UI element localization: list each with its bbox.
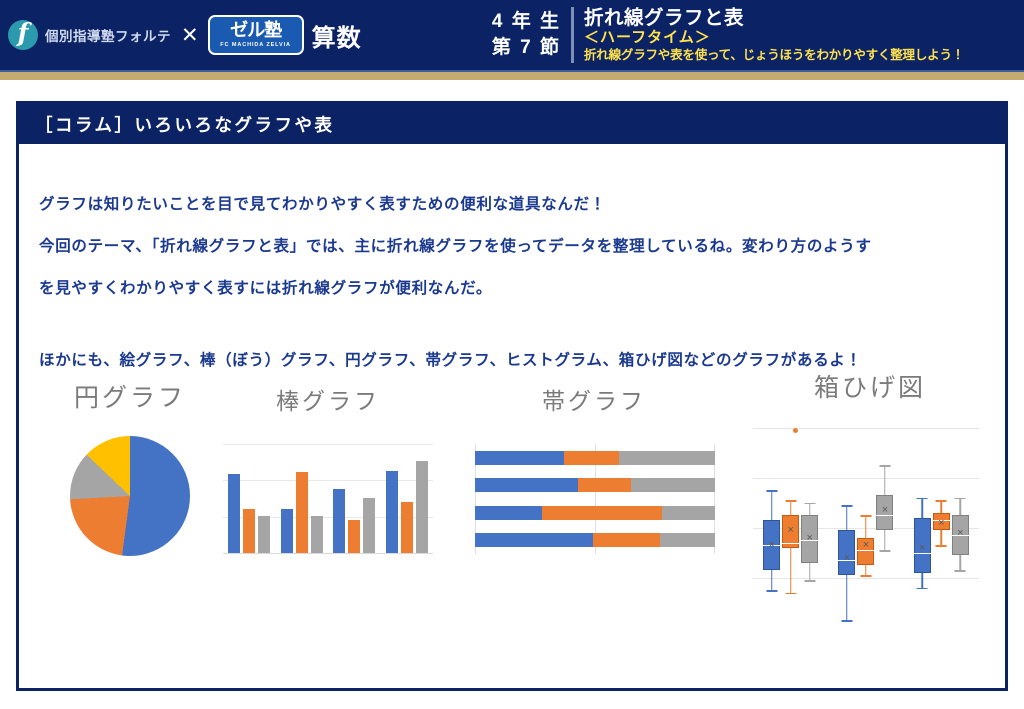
boxplot-box: × — [801, 420, 818, 620]
whisker-cap-max — [766, 490, 777, 492]
whisker-cap-min — [804, 580, 815, 582]
bar — [311, 516, 323, 553]
band-row — [475, 478, 715, 492]
bar-group — [386, 461, 428, 553]
bar — [281, 509, 293, 553]
forte-name-label: 個別指導塾フォルテ — [45, 25, 171, 45]
whisker-cap-min — [841, 620, 852, 622]
bar — [296, 472, 308, 553]
bar — [416, 461, 428, 553]
bar-chart-figure: 棒グラフ — [217, 382, 439, 554]
pie-slices — [70, 436, 190, 556]
zelvia-club-name: FC MACHIDA ZELVIA — [220, 41, 291, 49]
bar-groups — [223, 444, 433, 553]
median-line — [782, 543, 799, 544]
band-chart-title: 帯グラフ — [469, 382, 719, 416]
bar — [401, 502, 413, 553]
whisker-cap-min — [766, 590, 777, 592]
whisker-cap-min — [879, 550, 890, 552]
lesson-title-block: 折れ線グラフと表 ＜ハーフタイム＞ 折れ線グラフや表を使って、じょうほうをわかり… — [574, 7, 1024, 63]
bar — [228, 474, 240, 553]
boxplot-group: ××× — [837, 420, 895, 620]
lesson-subtitle: 折れ線グラフや表を使って、じょうほうをわかりやすく整理しよう！ — [584, 47, 1024, 63]
bar — [243, 509, 255, 553]
bar — [348, 520, 360, 553]
paragraph-2: 今回のテーマ、「折れ線グラフと表」では、主に折れ線グラフを使ってデータを整理して… — [39, 228, 971, 266]
whisker-cap-min — [917, 588, 928, 590]
header-gold-strip — [0, 70, 1024, 80]
band-segment — [631, 478, 715, 492]
bar-group — [281, 472, 323, 553]
band-segment — [542, 506, 662, 520]
boxplot-figure: 箱ひげ図 ××××××××× — [745, 368, 995, 620]
pie-chart-plot — [70, 436, 190, 556]
brand-forte: f 個別指導塾フォルテ — [8, 20, 171, 50]
bar-chart-plot — [223, 444, 433, 554]
bar — [258, 516, 270, 553]
lesson-title: 折れ線グラフと表 — [584, 7, 1024, 29]
whisker-cap-max — [955, 498, 966, 500]
paragraph-spacer — [39, 312, 971, 342]
section-label: 第 7 節 — [492, 35, 561, 61]
grade-label: 4 年 生 — [492, 9, 561, 35]
forte-f-circle-icon: f — [8, 20, 38, 50]
panel-title: ［コラム］いろいろなグラフや表 — [19, 104, 1005, 144]
paragraph-1: グラフは知りたいことを目で見てわかりやすく表すための便利な道具なんだ！ — [39, 186, 971, 224]
whisker-cap-min — [936, 545, 947, 547]
band-chart-plot — [475, 444, 715, 554]
paragraph-3: を見やすくわかりやすく表すには折れ線グラフが便利なんだ。 — [39, 270, 971, 308]
band-row — [475, 533, 715, 547]
boxplot-plot: ××××××××× — [753, 420, 979, 620]
boxplot-box: × — [952, 420, 969, 620]
whisker-cap-min — [785, 593, 796, 595]
whisker-cap-max — [860, 515, 871, 517]
boxplot-box: × — [857, 420, 874, 620]
bar — [386, 471, 398, 554]
boxplot-box: × — [838, 420, 855, 620]
band-segment — [564, 451, 619, 465]
page-header: f 個別指導塾フォルテ ✕ ゼル塾 FC MACHIDA ZELVIA 算数 4… — [0, 0, 1024, 70]
band-chart-figure: 帯グラフ — [469, 382, 719, 554]
whisker-cap-max — [804, 503, 815, 505]
column-panel: ［コラム］いろいろなグラフや表 グラフは知りたいことを目で見てわかりやすく表すた… — [16, 101, 1008, 691]
panel-body: グラフは知りたいことを目で見てわかりやすく表すための便利な道具なんだ！ 今回のテ… — [19, 144, 1005, 688]
pie-chart-figure: 円グラフ — [35, 378, 225, 556]
outlier-point — [793, 428, 798, 433]
subject-label: 算数 — [312, 18, 362, 53]
forte-f-glyph: f — [8, 20, 38, 50]
band-segment — [593, 533, 660, 547]
band-segment — [660, 533, 715, 547]
boxplot-box: × — [876, 420, 893, 620]
zelvia-logo-text: ゼル塾 — [230, 21, 281, 40]
band-segment — [475, 506, 542, 520]
grade-section-block: 4 年 生 第 7 節 — [492, 9, 571, 61]
whisker-cap-max — [936, 500, 947, 502]
bar — [363, 498, 375, 553]
bar-chart-title: 棒グラフ — [217, 382, 439, 416]
boxplot-title: 箱ひげ図 — [745, 368, 995, 404]
whisker-cap-max — [785, 500, 796, 502]
band-row — [475, 506, 715, 520]
whisker-cap-min — [860, 575, 871, 577]
boxplot-box: × — [933, 420, 950, 620]
band-segment — [475, 451, 564, 465]
boxplot-box: × — [914, 420, 931, 620]
band-segment — [475, 478, 578, 492]
whisker-cap-max — [841, 505, 852, 507]
boxplot-groups: ××××××××× — [753, 420, 979, 620]
cross-multiply-icon: ✕ — [181, 23, 199, 48]
whisker-cap-min — [955, 570, 966, 572]
bar-group — [333, 489, 375, 553]
band-segment — [619, 451, 715, 465]
halftime-badge: ＜ハーフタイム＞ — [584, 29, 1024, 47]
band-segment — [475, 533, 593, 547]
pie-chart-title: 円グラフ — [35, 378, 225, 414]
chart-gallery: 円グラフ 棒グラフ 帯グラフ — [19, 368, 1005, 683]
band-segment — [578, 478, 631, 492]
whisker-cap-max — [879, 465, 890, 467]
bar-group — [228, 474, 270, 553]
boxplot-box: × — [782, 420, 799, 620]
boxplot-group: ××× — [762, 420, 820, 620]
column-text: グラフは知りたいことを目で見てわかりやすく表すための便利な道具なんだ！ 今回のテ… — [19, 144, 1005, 380]
bar — [333, 489, 345, 553]
zelvia-logo: ゼル塾 FC MACHIDA ZELVIA — [208, 15, 304, 55]
band-row — [475, 451, 715, 465]
whisker-cap-max — [917, 498, 928, 500]
boxplot-group: ××× — [912, 420, 970, 620]
band-segment — [662, 506, 715, 520]
boxplot-box: × — [763, 420, 780, 620]
